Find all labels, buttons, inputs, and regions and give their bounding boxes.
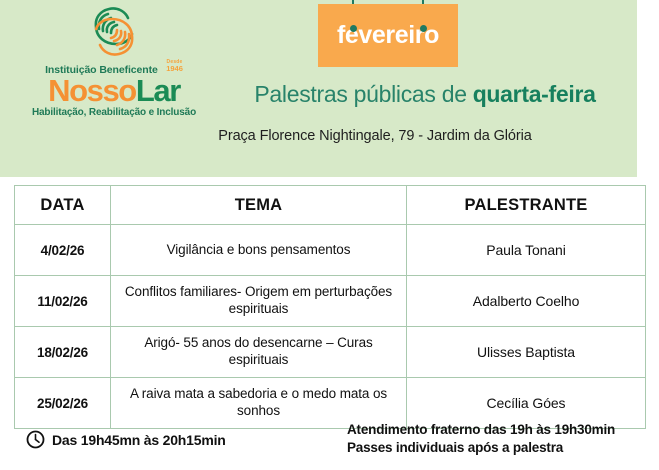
cell-date: 18/02/26 [15,327,111,378]
cell-speaker: Ulisses Baptista [407,327,646,378]
logo-since-badge: Desde 1946 [166,60,183,73]
table-row: 4/02/26 Vigilância e bons pensamentos Pa… [15,225,646,276]
logo-wordmark-nosso: Nosso [48,73,136,108]
table-header-row: DATA TEMA PALESTRANTE [15,186,646,225]
page-title-prefix: Palestras públicas de [254,81,466,107]
header-band: Instituição Beneficente Desde 1946 Nosso… [0,0,637,177]
page-title: Palestras públicas dequarta-feira [215,81,635,108]
footer: Das 19h45mn às 20h15min Atendimento frat… [0,414,659,470]
footer-notes: Atendimento fraterno das 19h às 19h30min… [347,421,615,457]
table-row: 11/02/26 Conflitos familiares- Origem em… [15,276,646,327]
footer-note-line-1: Atendimento fraterno das 19h às 19h30min [347,421,615,439]
badge-pin-left [350,25,357,32]
cell-theme: Arigó- 55 anos do desencarne – Curas esp… [111,327,407,378]
column-header-theme: TEMA [111,186,407,225]
cell-theme: Vigilância e bons pensamentos [111,225,407,276]
logo-tagline: Habilitação, Reabilitação e Inclusão [24,107,204,118]
venue-address: Praça Florence Nightingale, 79 - Jardim … [185,128,565,144]
page-title-weekday: quarta-feira [473,81,596,107]
logo-wordmark: NossoLar [24,75,204,107]
footer-time-block: Das 19h45mn às 20h15min [26,430,226,449]
column-header-speaker: PALESTRANTE [407,186,646,225]
footer-time-text: Das 19h45mn às 20h15min [52,432,226,448]
cell-speaker: Paula Tonani [407,225,646,276]
organization-logo: Instituição Beneficente Desde 1946 Nosso… [24,4,204,118]
clock-icon [26,430,45,449]
cell-theme: Conflitos familiares- Origem em perturba… [111,276,407,327]
table-row: 18/02/26 Arigó- 55 anos do desencarne – … [15,327,646,378]
logo-since-year: 1946 [166,65,183,73]
column-header-date: DATA [15,186,111,225]
cell-date: 4/02/26 [15,225,111,276]
two-hands-circle-icon [83,4,145,60]
cell-date: 11/02/26 [15,276,111,327]
logo-wordmark-lar: Lar [136,73,180,108]
footer-note-line-2: Passes individuais após a palestra [347,439,615,457]
badge-pin-right [420,25,427,32]
schedule-table: DATA TEMA PALESTRANTE 4/02/26 Vigilância… [14,185,646,429]
cell-speaker: Adalberto Coelho [407,276,646,327]
month-badge: fevereiro [318,4,458,67]
month-badge-hanger: fevereiro [318,0,458,72]
